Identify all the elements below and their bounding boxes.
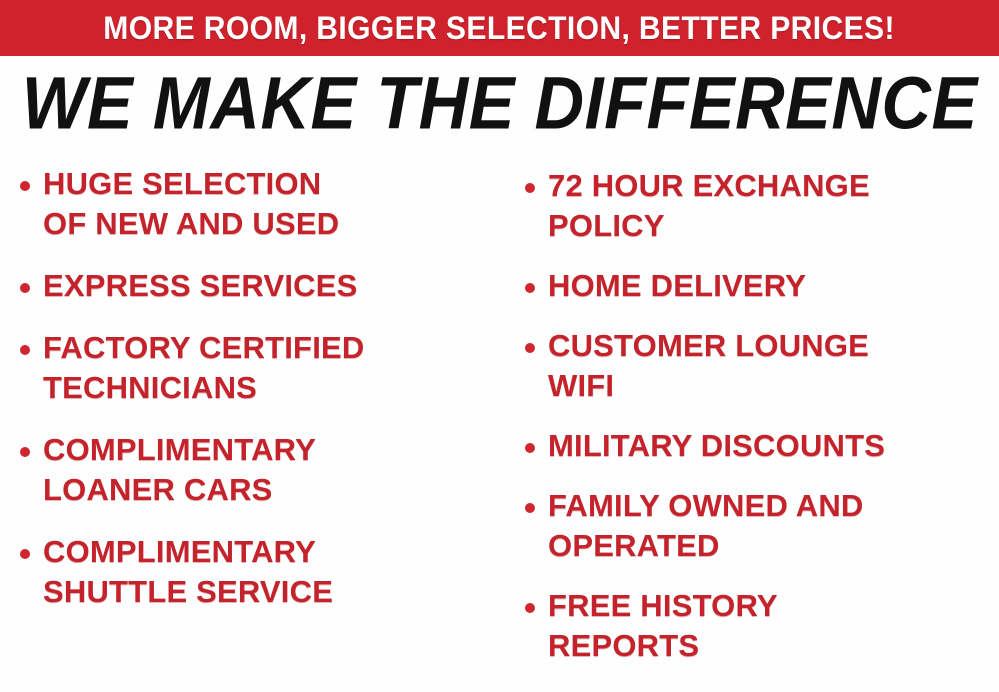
list-item: FACTORY CERTIFIED TECHNICIANS (20, 328, 505, 408)
list-item-label: CUSTOMER LOUNGE WIFI (548, 326, 869, 406)
benefits-column-right: 72 HOUR EXCHANGE POLICY HOME DELIVERY CU… (505, 152, 999, 692)
bullet-dot-icon (525, 283, 535, 293)
headline-container: WE MAKE THE DIFFERENCE (0, 62, 999, 144)
list-item: 72 HOUR EXCHANGE POLICY (525, 166, 999, 246)
bullet-dot-icon (525, 183, 535, 193)
list-item: HOME DELIVERY (525, 266, 999, 306)
bullet-dot-icon (525, 443, 535, 453)
list-item: FAMILY OWNED AND OPERATED (525, 486, 999, 566)
list-item-label: COMPLIMENTARY LOANER CARS (43, 430, 316, 510)
bullet-dot-icon (20, 283, 30, 293)
list-item-label: HUGE SELECTION OF NEW AND USED (43, 164, 339, 244)
list-item-label: MILITARY DISCOUNTS (548, 426, 885, 466)
benefits-column-left: HUGE SELECTION OF NEW AND USED EXPRESS S… (0, 152, 505, 692)
list-item: COMPLIMENTARY SHUTTLE SERVICE (20, 532, 505, 612)
benefits-columns: HUGE SELECTION OF NEW AND USED EXPRESS S… (0, 152, 999, 692)
list-item: CUSTOMER LOUNGE WIFI (525, 326, 999, 406)
list-item: FREE HISTORY REPORTS (525, 586, 999, 666)
list-item-label: FACTORY CERTIFIED TECHNICIANS (43, 328, 364, 408)
bullet-dot-icon (20, 345, 30, 355)
bullet-dot-icon (525, 343, 535, 353)
page-title: WE MAKE THE DIFFERENCE (22, 66, 978, 140)
bullet-dot-icon (20, 181, 30, 191)
list-item-label: EXPRESS SERVICES (43, 266, 357, 306)
list-item-label: HOME DELIVERY (548, 266, 806, 306)
list-item-label: 72 HOUR EXCHANGE POLICY (548, 166, 870, 246)
bullet-dot-icon (20, 447, 30, 457)
bullet-dot-icon (525, 503, 535, 513)
list-item: EXPRESS SERVICES (20, 266, 505, 306)
list-item: MILITARY DISCOUNTS (525, 426, 999, 466)
bullet-dot-icon (525, 603, 535, 613)
top-promo-banner-text: MORE ROOM, BIGGER SELECTION, BETTER PRIC… (104, 12, 896, 44)
top-promo-banner: MORE ROOM, BIGGER SELECTION, BETTER PRIC… (0, 0, 999, 56)
list-item-label: FAMILY OWNED AND OPERATED (548, 486, 864, 566)
list-item-label: COMPLIMENTARY SHUTTLE SERVICE (43, 532, 333, 612)
list-item: COMPLIMENTARY LOANER CARS (20, 430, 505, 510)
list-item: HUGE SELECTION OF NEW AND USED (20, 164, 505, 244)
promotional-banner-ad: MORE ROOM, BIGGER SELECTION, BETTER PRIC… (0, 0, 999, 692)
list-item-label: FREE HISTORY REPORTS (548, 586, 778, 666)
bullet-dot-icon (20, 549, 30, 559)
